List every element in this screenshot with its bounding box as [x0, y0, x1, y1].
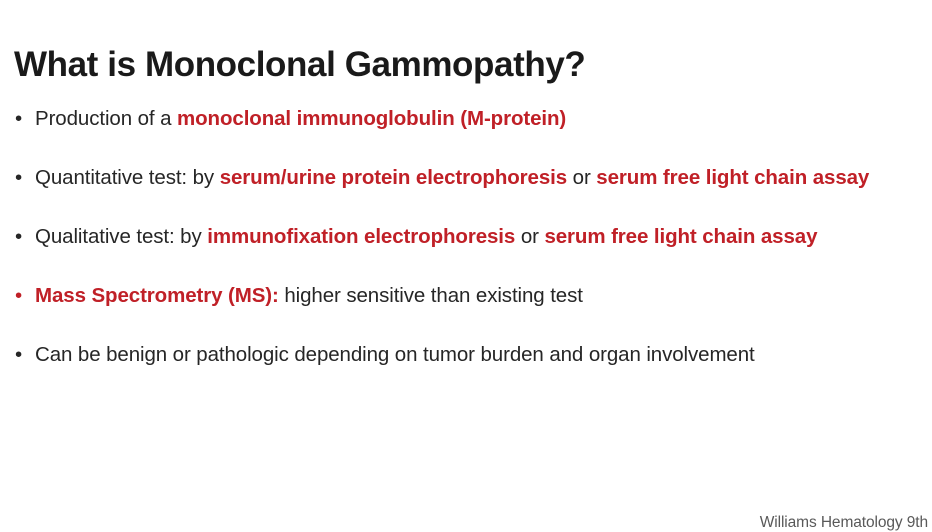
- bullet-marker-icon: •: [15, 96, 29, 141]
- bullet-marker-icon: •: [15, 214, 29, 259]
- list-item: •Quantitative test: by serum/urine prote…: [12, 155, 922, 200]
- bullet-marker-icon: •: [15, 332, 29, 377]
- highlighted-term: immunofixation electrophoresis: [207, 225, 515, 248]
- list-item: •Qualitative test: by immunofixation ele…: [12, 214, 922, 259]
- highlighted-term: monoclonal immunoglobulin (M-protein): [177, 107, 566, 130]
- highlighted-term: serum free light chain assay: [596, 166, 869, 189]
- page-title: What is Monoclonal Gammopathy?: [14, 45, 585, 85]
- body-text: Quantitative test: by: [35, 166, 220, 189]
- bullet-marker-icon: •: [15, 273, 29, 318]
- highlighted-term: serum free light chain assay: [544, 225, 817, 248]
- source-citation: Williams Hematology 9th: [760, 514, 928, 532]
- highlighted-term: Mass Spectrometry (MS):: [35, 284, 279, 307]
- body-text: or: [567, 166, 596, 189]
- bullet-marker-icon: •: [15, 155, 29, 200]
- body-text: Can be benign or pathologic depending on…: [35, 343, 755, 366]
- body-text: or: [515, 225, 544, 248]
- list-item: •Mass Spectrometry (MS): higher sensitiv…: [12, 273, 922, 318]
- body-text: Qualitative test: by: [35, 225, 207, 248]
- list-item: •Can be benign or pathologic depending o…: [12, 332, 922, 377]
- body-text: Production of a: [35, 107, 177, 130]
- list-item: •Production of a monoclonal immunoglobul…: [12, 96, 922, 141]
- slide-canvas: What is Monoclonal Gammopathy? •Producti…: [0, 0, 932, 529]
- bullet-list: •Production of a monoclonal immunoglobul…: [12, 96, 922, 377]
- body-text: higher sensitive than existing test: [279, 284, 583, 307]
- highlighted-term: serum/urine protein electrophoresis: [220, 166, 567, 189]
